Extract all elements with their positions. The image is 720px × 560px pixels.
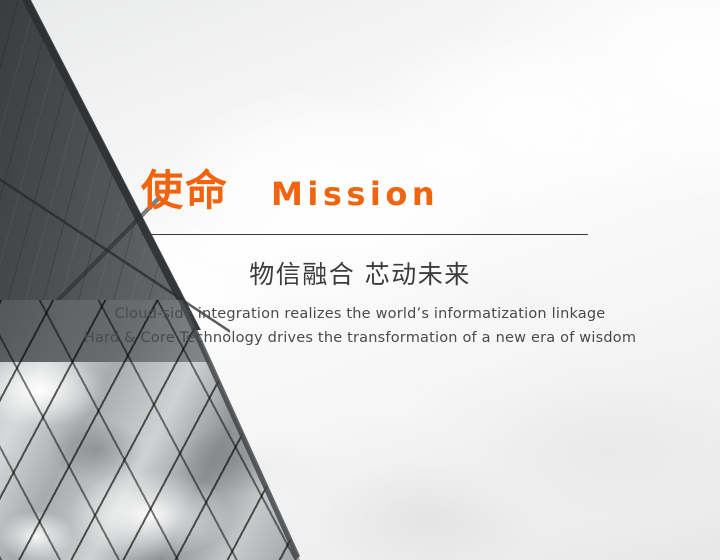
mission-banner: 使命 Mission 物信融合 芯动未来 Cloud-side integrat… — [0, 0, 720, 560]
title-chinese: 使命 — [141, 170, 229, 212]
banner-title: 使命 Mission — [141, 170, 439, 212]
description-line-2: Hard & Core Technology drives the transf… — [0, 326, 720, 350]
title-english: Mission — [271, 178, 439, 210]
description-block: Cloud-side integration realizes the worl… — [0, 302, 720, 350]
banner-content: 使命 Mission 物信融合 芯动未来 Cloud-side integrat… — [0, 0, 720, 560]
description-line-1: Cloud-side integration realizes the worl… — [0, 302, 720, 326]
title-divider — [141, 234, 588, 235]
subtitle-chinese: 物信融合 芯动未来 — [0, 258, 720, 291]
